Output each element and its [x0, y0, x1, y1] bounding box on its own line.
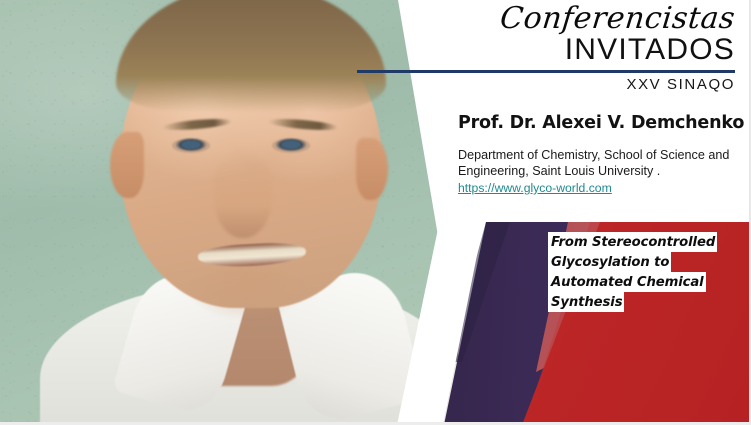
header-event-name: XXV SINAQO	[305, 76, 735, 93]
eye-left	[172, 138, 210, 153]
header-main-title: INVITADOS	[305, 34, 735, 66]
speaker-affiliation: Department of Chemistry, School of Scien…	[458, 147, 740, 179]
ear-right	[356, 138, 388, 200]
eye-right	[272, 138, 310, 153]
speaker-website-link[interactable]: https://www.glyco-world.com	[458, 181, 612, 196]
nose	[214, 152, 272, 238]
talk-title-line-2: Glycosylation to	[548, 252, 671, 272]
header-divider-rule	[357, 70, 735, 73]
talk-title-line-4: Synthesis	[548, 292, 624, 312]
speaker-announcement-poster: Conferencistas INVITADOS XXV SINAQO Prof…	[0, 0, 751, 425]
chin	[186, 268, 306, 320]
ear-left	[110, 132, 144, 198]
header-script-title: Conferencistas	[303, 2, 737, 36]
talk-title-line-3: Automated Chemical	[548, 272, 706, 292]
speaker-info-block: Prof. Dr. Alexei V. Demchenko Department…	[458, 112, 746, 197]
talk-title: From Stereocontrolled Glycosylation to A…	[548, 232, 744, 312]
poster-header: Conferencistas INVITADOS XXV SINAQO	[305, 2, 735, 93]
speaker-name: Prof. Dr. Alexei V. Demchenko	[458, 112, 746, 134]
talk-title-line-1: From Stereocontrolled	[548, 232, 717, 252]
